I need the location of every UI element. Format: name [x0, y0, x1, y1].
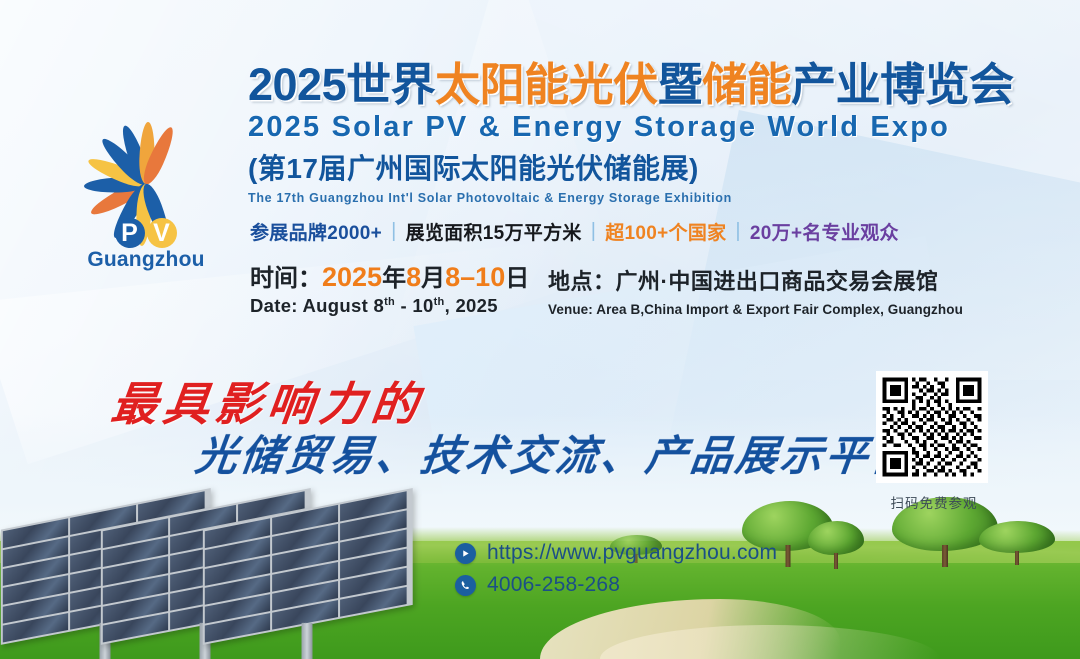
- title-segment-3: 暨: [658, 59, 703, 110]
- date-en-sup1: th: [384, 296, 395, 308]
- date-en: Date: August 8th - 10th, 2025: [250, 295, 529, 317]
- logo-letter-v: V: [147, 218, 177, 248]
- solar-panel-illustration: [0, 481, 490, 651]
- contact-block: https://www.pvguangzhou.com 4006-258-268: [455, 541, 777, 605]
- stat-visitors: 20万+名专业观众: [750, 218, 899, 245]
- main-title-cn: 2025世界太阳能光伏暨储能产业博览会: [248, 62, 1038, 108]
- stat-brands: 参展品牌2000+: [250, 218, 382, 245]
- venue-label-cn: 地点：: [548, 269, 616, 294]
- date-en-sup2: th: [434, 296, 445, 308]
- stat-separator: |: [735, 220, 741, 243]
- stat-countries: 超100+个国家: [605, 218, 726, 245]
- subtitle-en: The 17th Guangzhou Int'l Solar Photovolt…: [248, 191, 1038, 205]
- date-cn: 时间：2025年8月8–10日: [250, 262, 529, 293]
- date-day-unit: 日: [505, 265, 529, 292]
- title-segment-5: 产业博览会: [791, 59, 1014, 110]
- stat-separator: |: [591, 220, 597, 243]
- title-segment-1: 2025世界: [248, 59, 435, 110]
- logo-pv-text: P V: [48, 218, 244, 248]
- title-segment-4: 储能: [702, 59, 791, 110]
- date-month: 8: [406, 262, 421, 292]
- date-day-start: 8: [445, 262, 460, 292]
- play-icon: [455, 543, 476, 564]
- tree-icon: [978, 521, 1056, 565]
- date-en-day2: 10: [412, 295, 433, 316]
- phone-number[interactable]: 4006-258-268: [487, 573, 620, 597]
- date-en-day1: 8: [373, 295, 384, 316]
- venue-block: 地点：广州·中国进出口商品交易会展馆 Venue: Area B,China I…: [548, 264, 963, 317]
- stat-area: 展览面积15万平方米: [406, 218, 582, 245]
- subtitle-cn: (第17届广州国际太阳能光伏储能展): [248, 147, 1038, 187]
- date-day-end: 10: [475, 262, 505, 292]
- date-block: 时间：2025年8月8–10日 Date: August 8th - 10th,…: [250, 262, 529, 317]
- logo-city-text: Guangzhou: [48, 249, 244, 270]
- logo-letter-p: P: [115, 218, 145, 248]
- date-year-unit: 年: [382, 265, 406, 292]
- date-month-unit: 月: [421, 265, 445, 292]
- expo-poster: P V Guangzhou 2025世界太阳能光伏暨储能产业博览会 2025 S…: [0, 0, 1080, 659]
- pv-guangzhou-logo: P V Guangzhou: [48, 96, 244, 272]
- tree-icon: [806, 521, 866, 569]
- date-year: 2025: [322, 262, 382, 292]
- website-url[interactable]: https://www.pvguangzhou.com: [487, 541, 777, 565]
- website-row[interactable]: https://www.pvguangzhou.com: [455, 541, 777, 565]
- slogan-line-2: 光储贸易、技术交流、产品展示平台!: [192, 422, 941, 483]
- qr-block: 扫码免费参观: [876, 371, 992, 512]
- date-en-dash: -: [395, 295, 412, 316]
- venue-cn: 地点：广州·中国进出口商品交易会展馆: [548, 264, 963, 296]
- date-en-year: , 2025: [445, 295, 498, 316]
- main-title-en: 2025 Solar PV & Energy Storage World Exp…: [248, 111, 1038, 144]
- phone-row[interactable]: 4006-258-268: [455, 573, 777, 597]
- phone-icon: [455, 575, 476, 596]
- stat-separator: |: [391, 220, 397, 243]
- qr-code-image[interactable]: [876, 371, 988, 483]
- date-label-cn: 时间：: [250, 265, 322, 292]
- date-en-prefix: Date: August: [250, 295, 373, 316]
- headline-block: 2025世界太阳能光伏暨储能产业博览会 2025 Solar PV & Ener…: [248, 62, 1038, 205]
- venue-en: Venue: Area B,China Import & Export Fair…: [548, 302, 963, 317]
- stats-bar: 参展品牌2000+ | 展览面积15万平方米 | 超100+个国家 | 20万+…: [250, 218, 899, 245]
- qr-caption: 扫码免费参观: [876, 492, 992, 512]
- date-day-dash: –: [460, 262, 475, 292]
- venue-name-cn: 广州·中国进出口商品交易会展馆: [616, 269, 939, 294]
- title-segment-2: 太阳能光伏: [435, 59, 658, 110]
